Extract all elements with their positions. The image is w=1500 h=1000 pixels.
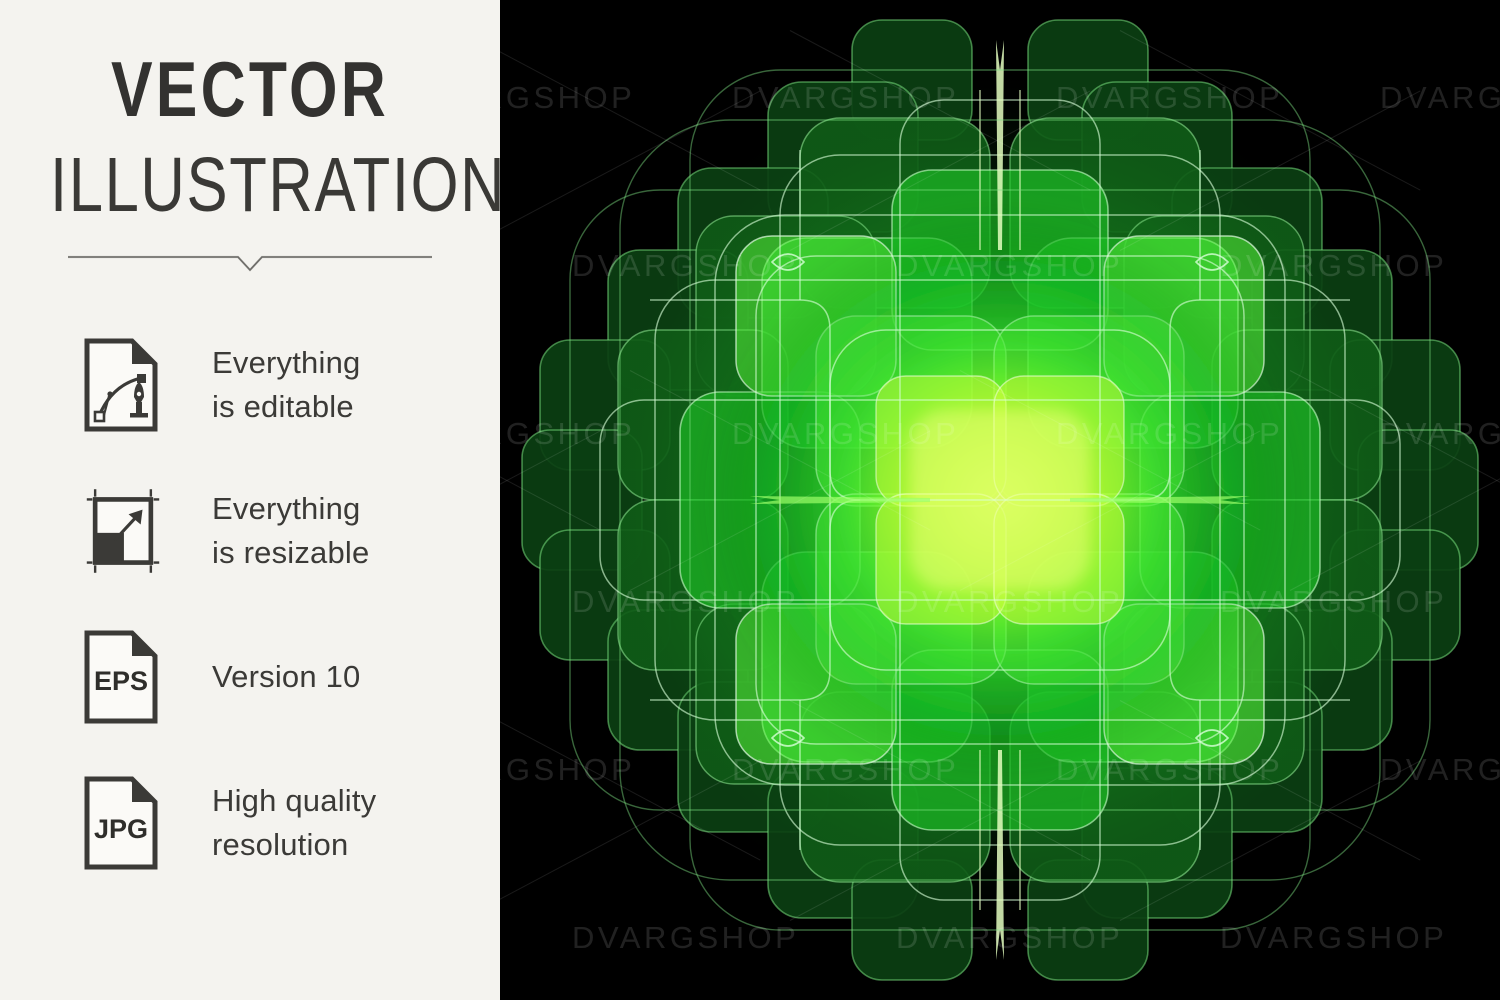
resize-crop-arrow-icon — [84, 483, 162, 579]
divider-notch-icon — [68, 252, 432, 274]
feature-item-editable: Everything is editable — [0, 312, 500, 458]
feature-label: High quality resolution — [212, 779, 376, 867]
page-title: VECTOR — [50, 52, 450, 126]
artwork-canvas — [500, 0, 1500, 1000]
vector-artwork-preview: DVARGSHOP DVARGSHOP DVARGSHOP DVARGSHOP … — [500, 0, 1500, 1000]
file-pen-tool-icon — [84, 337, 162, 433]
feature-label: Everything is resizable — [212, 487, 369, 575]
feature-item-jpg: JPG High quality resolution — [0, 750, 500, 896]
file-eps-icon: EPS — [84, 629, 162, 725]
file-format-label: JPG — [94, 814, 148, 844]
feature-list: Everything is editable — [0, 312, 500, 896]
file-format-label: EPS — [94, 666, 148, 696]
feature-item-eps: EPS Version 10 — [0, 604, 500, 750]
preview-stage: VECTOR ILLUSTRATION — [0, 0, 1500, 1000]
info-sidebar: VECTOR ILLUSTRATION — [0, 0, 500, 1000]
page-subtitle: ILLUSTRATION — [50, 140, 450, 231]
feature-item-resizable: Everything is resizable — [0, 458, 500, 604]
title-block: VECTOR ILLUSTRATION — [0, 52, 500, 231]
divider — [68, 252, 432, 274]
feature-label: Version 10 — [212, 655, 361, 699]
feature-label: Everything is editable — [212, 341, 360, 429]
file-jpg-icon: JPG — [84, 775, 162, 871]
